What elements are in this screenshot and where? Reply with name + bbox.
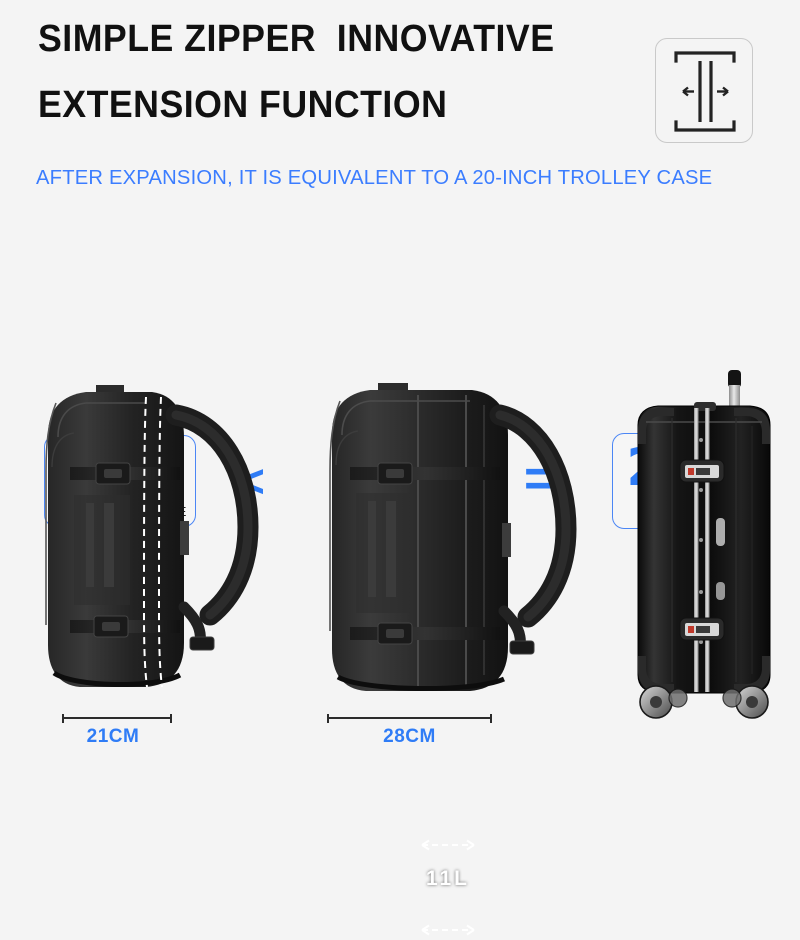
backpack-collapsed-side-view [34, 375, 284, 710]
measure-bar [62, 714, 172, 723]
measure-label-28cm: 28CM [327, 726, 492, 748]
trolley-case-20-inch [612, 330, 800, 725]
headline-line-1: SIMPLE ZIPPER INNOVATIVE [38, 20, 621, 58]
measure-bar [327, 714, 492, 723]
expansion-volume-label: 11L [412, 867, 484, 891]
page-title: SIMPLE ZIPPER INNOVATIVE EXTENSION FUNCT… [38, 20, 621, 124]
product-images: 11L [0, 330, 800, 720]
header: SIMPLE ZIPPER INNOVATIVE EXTENSION FUNCT… [0, 0, 800, 205]
expansion-volume-annotation: 11L [412, 835, 484, 940]
backpack-expanded-side-view [322, 375, 584, 710]
headline-line-2: EXTENSION FUNCTION [38, 86, 621, 124]
horizontal-expand-icon [655, 38, 753, 143]
capacity-comparison-row: 30L STATE OF DAILY LIFE < 41L TRAVEL STA… [0, 215, 800, 325]
measure-label-21cm: 21CM [58, 726, 168, 748]
page-subtitle: AFTER EXPANSION, IT IS EQUIVALENT TO A 2… [36, 166, 712, 190]
